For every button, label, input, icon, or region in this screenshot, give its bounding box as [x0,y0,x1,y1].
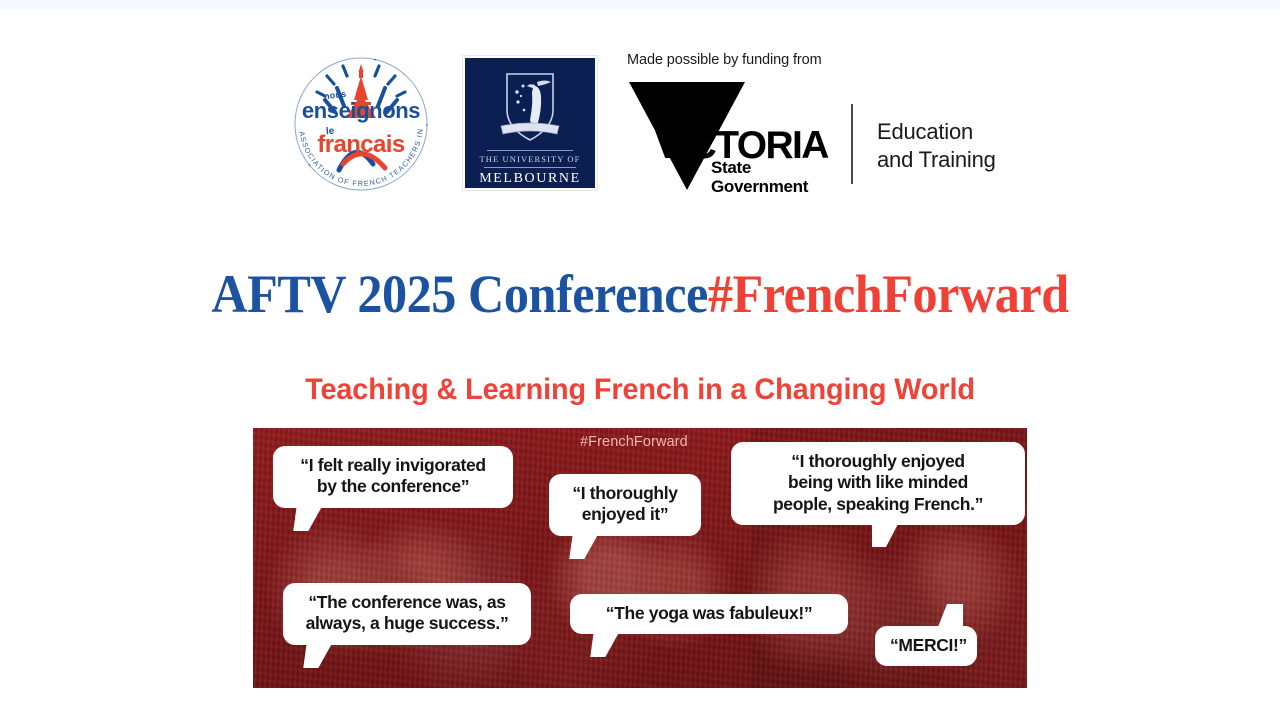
victoria-state-government-text: State Government [711,158,808,196]
aftv-word-le: le [325,127,334,138]
bubble-merci: “MERCI!” [875,626,977,666]
bubble-huge-success: “The conference was, as always, a huge s… [283,583,531,645]
victoria-government-line: Government [711,177,808,196]
melbourne-line-1: THE UNIVERSITY OF [479,154,580,164]
university-of-melbourne-logo: THE UNIVERSITY OF MELBOURNE [463,56,597,190]
aftv-word-enseignons: enseignons [281,100,441,122]
bubble-thoroughly-enjoyed: “I thoroughly enjoyed it” [549,474,701,536]
victoria-state-government-logo: Made possible by funding from VICTORIA S… [619,48,999,198]
melbourne-line-2: MELBOURNE [479,171,581,187]
department-line-1: Education [877,118,996,146]
slide-canvas: ASSOCIATION OF FRENCH TEACHERS IN VICTOR… [0,0,1280,720]
top-strip [0,0,1280,9]
department-name: Education and Training [877,118,996,174]
logo-row: ASSOCIATION OF FRENCH TEACHERS IN VICTOR… [0,38,1280,208]
page-title-hashtag: #FrenchForward [708,264,1069,324]
victoria-state-line: State [711,158,808,177]
victoria-divider [851,104,853,184]
bubble-yoga: “The yoga was fabuleux!” [570,594,848,634]
hashtag-watermark: #FrenchForward [580,434,688,450]
aftv-wordmark: nous enseignons le français [281,86,441,157]
funding-credit-text: Made possible by funding from [627,52,822,68]
bubble-invigorated: “I felt really invigorated by the confer… [273,446,513,508]
aftv-word-francais: français [281,133,441,157]
aftv-logo: ASSOCIATION OF FRENCH TEACHERS IN VICTOR… [281,42,441,204]
department-line-2: and Training [877,146,996,174]
crest-divider-2 [484,167,576,168]
crest-divider [487,150,573,151]
page-title-blue: AFTV 2025 Conference [211,264,708,324]
page-title: AFTV 2025 Conference#FrenchForward [45,263,1235,325]
conference-photo-collage: #FrenchForward “I felt really invigorate… [253,428,1027,688]
bubble-like-minded: “I thoroughly enjoyed being with like mi… [731,442,1025,525]
melbourne-crest-icon [497,70,563,144]
page-subtitle: Teaching & Learning French in a Changing… [26,373,1255,407]
